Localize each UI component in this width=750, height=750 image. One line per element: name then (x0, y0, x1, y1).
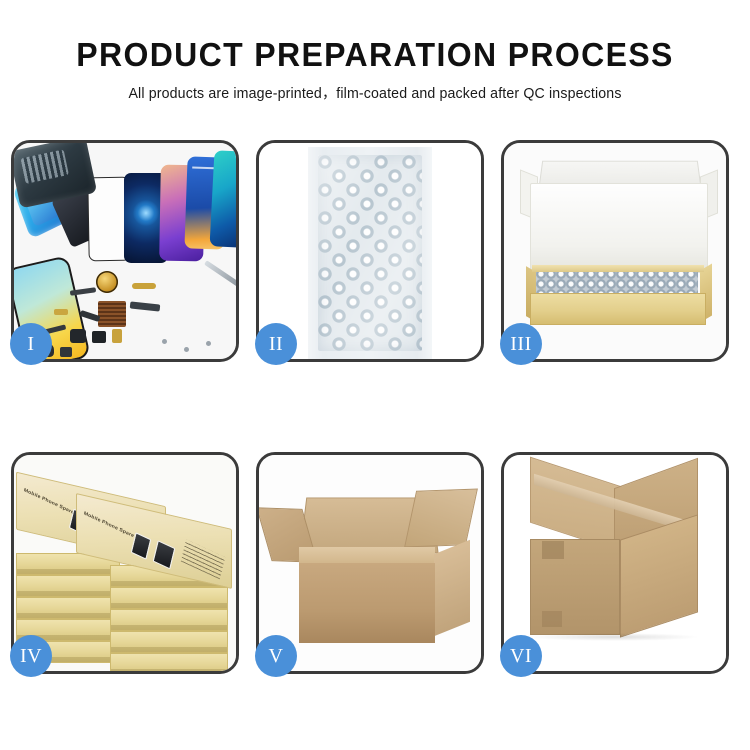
step-badge-5: V (255, 635, 297, 677)
chip-array-part (98, 301, 126, 327)
process-grid: I II III (11, 140, 739, 674)
bubble-wrap-bubbles (318, 155, 422, 351)
step-6-image (504, 455, 726, 671)
sim-tray-part (60, 347, 72, 357)
carton-handle-tab (542, 541, 564, 559)
screw-part (184, 347, 189, 352)
screw-part (162, 339, 167, 344)
step-5-image (259, 455, 481, 671)
carton-front-panel (299, 563, 435, 643)
carton-right-flap (404, 489, 478, 548)
vibration-motor-part (96, 271, 118, 293)
stacked-box (110, 587, 228, 609)
process-step-5: V (256, 452, 484, 674)
camera-module-part (70, 329, 86, 343)
process-step-3: III (501, 140, 729, 362)
process-step-4: Mobile Phone Spare Parts Mobile Phone Sp… (11, 452, 239, 674)
carton-right-side (434, 540, 470, 637)
stacked-box (16, 575, 120, 597)
page-subtitle: All products are image-printed，film-coat… (6, 82, 745, 103)
speaker-module-part (92, 331, 106, 343)
step-badge-1: I (10, 323, 52, 365)
step-2-image (259, 143, 481, 359)
carton-handle-tab (542, 611, 562, 627)
step-4-image: Mobile Phone Spare Parts Mobile Phone Sp… (14, 455, 236, 671)
step-3-image (504, 143, 726, 359)
box-front-panel (530, 293, 706, 325)
page-title: PRODUCT PREPARATION PROCESS (11, 38, 739, 73)
carton-shadow (528, 633, 700, 641)
gold-contact-part (112, 329, 122, 343)
tweezers-tool (204, 260, 236, 287)
box-screen-image (153, 540, 176, 569)
stacked-box (110, 653, 228, 671)
header: PRODUCT PREPARATION PROCESS All products… (0, 0, 750, 103)
stacked-box (16, 597, 120, 619)
box-front-rim (532, 265, 704, 272)
box-spec-lines (181, 539, 225, 579)
step-badge-6: VI (500, 635, 542, 677)
box-white-lid (530, 183, 708, 273)
stacked-box (110, 609, 228, 631)
screw-part (206, 341, 211, 346)
gold-flex-part (54, 309, 68, 315)
infographic-root: PRODUCT PREPARATION PROCESS All products… (0, 0, 750, 750)
flex-cable-part (130, 301, 161, 311)
box-screen-image (131, 532, 152, 559)
process-step-2: II (256, 140, 484, 362)
step-badge-3: III (500, 323, 542, 365)
step-badge-4: IV (10, 635, 52, 677)
process-step-6: VI (501, 452, 729, 674)
step-1-image (14, 143, 236, 359)
stacked-box (110, 631, 228, 653)
phone-teal-swirl (210, 150, 236, 248)
process-step-1: I (11, 140, 239, 362)
step-badge-2: II (255, 323, 297, 365)
gold-connector-part (132, 283, 156, 289)
